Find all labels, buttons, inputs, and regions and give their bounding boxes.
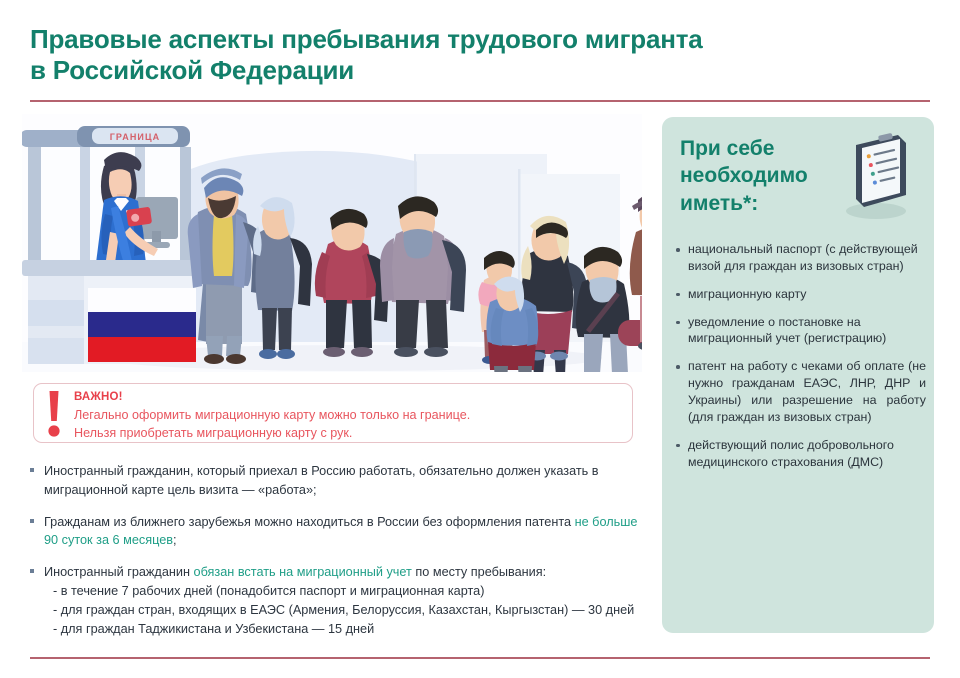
list-item: Иностранный гражданин обязан встать на м… bbox=[30, 563, 642, 638]
border-booth: ГРАНИЦА bbox=[22, 126, 208, 364]
document-item-3: уведомление о постановке на миграционный… bbox=[688, 314, 926, 348]
required-documents-list: национальный паспорт (с действующей визо… bbox=[676, 241, 926, 481]
page-title: Правовые аспекты пребывания трудового ми… bbox=[30, 24, 910, 85]
bullet-3-body: Иностранный гражданин обязан встать на м… bbox=[44, 563, 642, 638]
important-callout: ВАЖНО! Легально оформить миграционную ка… bbox=[33, 383, 633, 443]
page-title-line2: в Российской Федерации bbox=[30, 55, 354, 85]
bullet-dot-icon bbox=[676, 241, 688, 275]
bullet-square-icon bbox=[30, 513, 44, 551]
infographic-page: Правовые аспекты пребывания трудового ми… bbox=[0, 0, 960, 678]
document-item-4: патент на работу с чеками об оплате (не … bbox=[688, 358, 926, 425]
bullet-square-icon bbox=[30, 563, 44, 638]
callout-text: ВАЖНО! Легально оформить миграционную ка… bbox=[74, 390, 624, 442]
bullet-3-post: по месту пребывания: bbox=[412, 565, 546, 579]
list-item: действующий полис добровольного медицинс… bbox=[676, 437, 926, 471]
bullet-dot-icon bbox=[676, 286, 688, 303]
footer-divider-rule bbox=[30, 657, 930, 659]
document-item-2: миграционную карту bbox=[688, 286, 926, 303]
list-item: патент на работу с чеками об оплате (не … bbox=[676, 358, 926, 425]
duffel-bag bbox=[618, 320, 642, 346]
panel-heading: При себе необходимо иметь*: bbox=[680, 135, 850, 217]
bullet-2-post: ; bbox=[173, 533, 177, 547]
document-item-5: действующий полис добровольного медицинс… bbox=[688, 437, 926, 471]
list-item: Гражданам из ближнего зарубежья можно на… bbox=[30, 513, 642, 551]
documents-panel: При себе необходимо иметь*: национальный… bbox=[662, 117, 934, 633]
callout-line-2: Нельзя приобретать миграционную карту с … bbox=[74, 424, 624, 442]
bullet-1-pre: Иностранный гражданин, который приехал в… bbox=[44, 464, 599, 497]
list-item: миграционную карту bbox=[676, 286, 926, 303]
passport-held bbox=[126, 207, 152, 227]
border-crossing-illustration: ГРАНИЦА bbox=[22, 114, 642, 372]
bullet-3-highlight: обязан встать на миграционный учет bbox=[194, 565, 412, 579]
callout-heading: ВАЖНО! bbox=[74, 390, 624, 406]
document-item-1: национальный паспорт (с действующей визо… bbox=[688, 241, 926, 275]
list-item: уведомление о постановке на миграционный… bbox=[676, 314, 926, 348]
list-item: Иностранный гражданин, который приехал в… bbox=[30, 462, 642, 500]
bullet-2-body: Гражданам из ближнего зарубежья можно на… bbox=[44, 513, 642, 551]
bullet-3-subline-1: - в течение 7 рабочих дней (понадобится … bbox=[44, 582, 642, 601]
clipboard-icon bbox=[840, 131, 918, 223]
bullet-square-icon bbox=[30, 462, 44, 500]
russian-flag bbox=[88, 288, 196, 362]
bullet-dot-icon bbox=[676, 314, 688, 348]
bullet-2-pre: Гражданам из ближнего зарубежья можно на… bbox=[44, 515, 575, 529]
page-title-line1: Правовые аспекты пребывания трудового ми… bbox=[30, 24, 703, 54]
bullet-1-body: Иностранный гражданин, который приехал в… bbox=[44, 462, 642, 500]
counter-top bbox=[22, 260, 208, 276]
illustration-svg: ГРАНИЦА bbox=[22, 114, 642, 372]
bullet-3-subline-3: - для граждан Таджикистана и Узбекистана… bbox=[44, 620, 642, 639]
title-divider-rule bbox=[30, 100, 930, 102]
bullet-dot-icon bbox=[676, 437, 688, 471]
bullet-3-subline-2: - для граждан стран, входящих в ЕАЭС (Ар… bbox=[44, 601, 642, 620]
list-item: национальный паспорт (с действующей визо… bbox=[676, 241, 926, 275]
callout-line-1: Легально оформить миграционную карту мож… bbox=[74, 406, 624, 424]
exclamation-icon bbox=[46, 391, 62, 437]
bullet-3-pre: Иностранный гражданин bbox=[44, 565, 194, 579]
border-sign-label: ГРАНИЦА bbox=[110, 132, 161, 142]
bullet-dot-icon bbox=[676, 358, 688, 425]
left-bullet-list: Иностранный гражданин, который приехал в… bbox=[30, 462, 642, 651]
scarf-4 bbox=[404, 229, 433, 259]
